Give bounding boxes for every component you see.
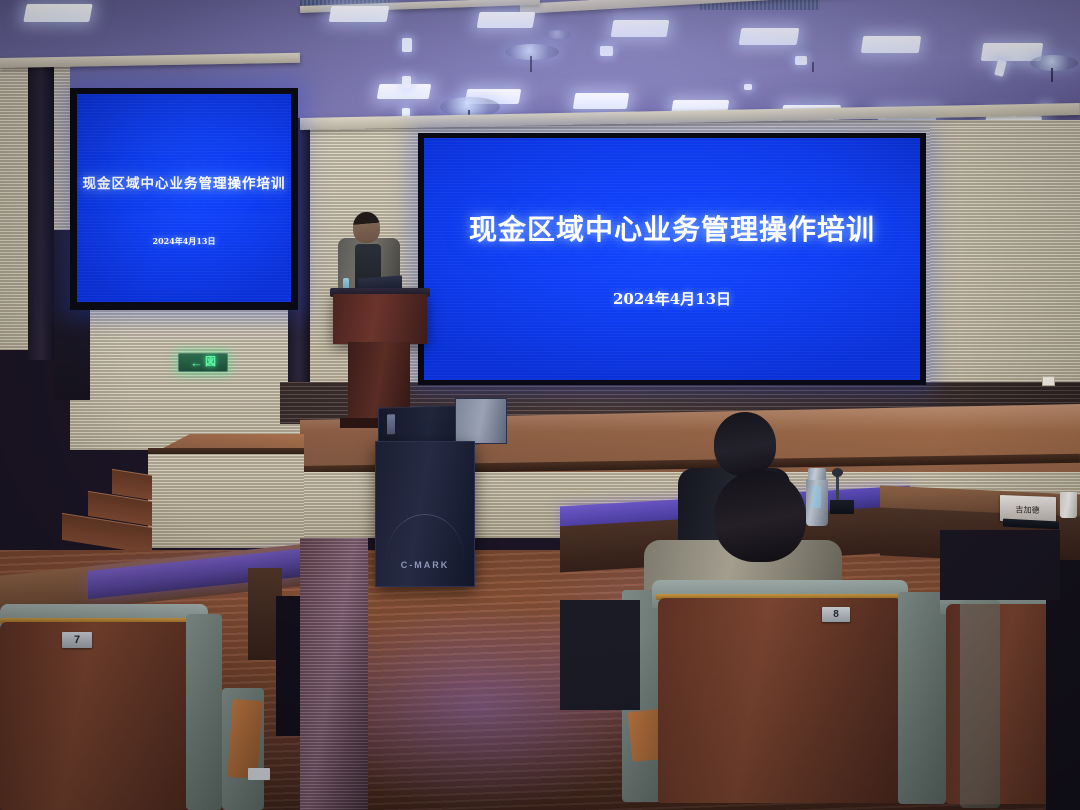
wall-column bbox=[28, 60, 54, 360]
chair-shadow-gap bbox=[560, 600, 640, 710]
side-display-title: 现金区域中心业务管理操作培训 bbox=[77, 172, 291, 192]
light-drop-rod bbox=[530, 56, 532, 72]
main-led-wall-date: 2024年4月13日 bbox=[424, 288, 920, 309]
ceiling-panel-light bbox=[329, 6, 390, 22]
ceiling-spot-light bbox=[600, 46, 613, 56]
main-led-wall-title: 现金区域中心业务管理操作培训 bbox=[424, 208, 920, 248]
ceiling-vent bbox=[700, 0, 820, 10]
emergency-exit-sign: ← 図 bbox=[178, 353, 228, 372]
exit-arrow-icon: ← bbox=[190, 356, 203, 369]
ceiling-round-fixture bbox=[545, 30, 571, 39]
side-display-screen: 现金区域中心业务管理操作培训 2024年4月13日 bbox=[77, 94, 291, 302]
desk-microphone-head bbox=[832, 468, 843, 477]
ceiling-spot-light bbox=[402, 76, 411, 88]
conference-hall-photo: 现金区域中心业务管理操作培训 2024年4月13日 现金区域中心业务管理操作培训… bbox=[0, 0, 1080, 810]
thermos-window bbox=[812, 486, 821, 508]
presenter-head bbox=[353, 212, 380, 243]
chair-8-backrest bbox=[658, 598, 902, 803]
podium bbox=[333, 294, 427, 344]
ceiling-panel-light bbox=[377, 84, 432, 99]
ceiling-panel-light bbox=[23, 4, 92, 22]
main-led-wall-frame: 现金区域中心业务管理操作培训 2024年4月13日 bbox=[418, 133, 926, 385]
light-drop-rod bbox=[1051, 68, 1053, 82]
side-display-frame: 现金区域中心业务管理操作培训 2024年4月13日 bbox=[70, 88, 298, 310]
attendee-back-head bbox=[714, 412, 776, 476]
light-drop-rod bbox=[812, 62, 814, 72]
aisle-wall-panel bbox=[300, 538, 368, 810]
chair-7-right-side bbox=[186, 614, 222, 810]
chair-8-right-side bbox=[898, 592, 946, 804]
stage-monitor-badge bbox=[387, 414, 395, 434]
ceiling-panel-light bbox=[861, 36, 921, 53]
stage-equipment-case bbox=[455, 398, 507, 444]
ceiling-beam bbox=[300, 0, 540, 13]
ceiling-spot-light bbox=[402, 38, 412, 52]
ceiling-panel-light bbox=[465, 89, 522, 104]
paper-cup bbox=[1060, 492, 1077, 518]
ceiling-panel-light bbox=[611, 20, 670, 37]
thermos-cap bbox=[808, 468, 826, 480]
stage-left-riser bbox=[148, 452, 304, 548]
nameplate-text: 吉加德 bbox=[1016, 503, 1040, 516]
ceiling-spot-light bbox=[994, 59, 1007, 77]
ceiling-spot-light bbox=[795, 56, 807, 65]
ceiling-panel-light bbox=[477, 12, 536, 28]
ceiling-vent bbox=[300, 0, 390, 7]
chair-partial-armrest bbox=[227, 699, 262, 779]
exit-running-man-icon: 図 bbox=[205, 357, 216, 368]
right-desk-shadow bbox=[940, 530, 1060, 600]
side-display-date: 2024年4月13日 bbox=[77, 236, 291, 247]
ceiling-panel-light bbox=[981, 43, 1044, 61]
chair-9-left-side bbox=[960, 600, 1000, 808]
ceiling-panel-light bbox=[739, 28, 800, 45]
seat-number-plate: 8 bbox=[822, 607, 850, 622]
subwoofer: C-MARK bbox=[375, 441, 475, 587]
main-led-wall-screen: 现金区域中心业务管理操作培训 2024年4月13日 bbox=[424, 138, 920, 380]
ceiling-beam bbox=[520, 0, 1080, 14]
wall-outlet bbox=[1042, 376, 1055, 386]
chair-7-backrest bbox=[0, 622, 200, 810]
right-wall-panel bbox=[930, 128, 1080, 410]
ceiling-panel-light bbox=[573, 93, 630, 109]
ceiling-spot-light bbox=[744, 84, 752, 90]
seat-number-plate: 7 bbox=[62, 632, 92, 648]
subwoofer-brand-label: C-MARK bbox=[376, 560, 474, 570]
subwoofer-trim-curve bbox=[386, 514, 464, 559]
desk-monitor-small bbox=[830, 500, 854, 514]
chair-partial-label bbox=[248, 768, 270, 780]
stage-left-edge bbox=[148, 448, 304, 454]
ceiling-round-fixture bbox=[505, 44, 559, 60]
attendee-front-head bbox=[714, 470, 806, 562]
left-lower-wall-panel bbox=[70, 300, 310, 450]
ceiling-round-fixture bbox=[1030, 55, 1078, 71]
